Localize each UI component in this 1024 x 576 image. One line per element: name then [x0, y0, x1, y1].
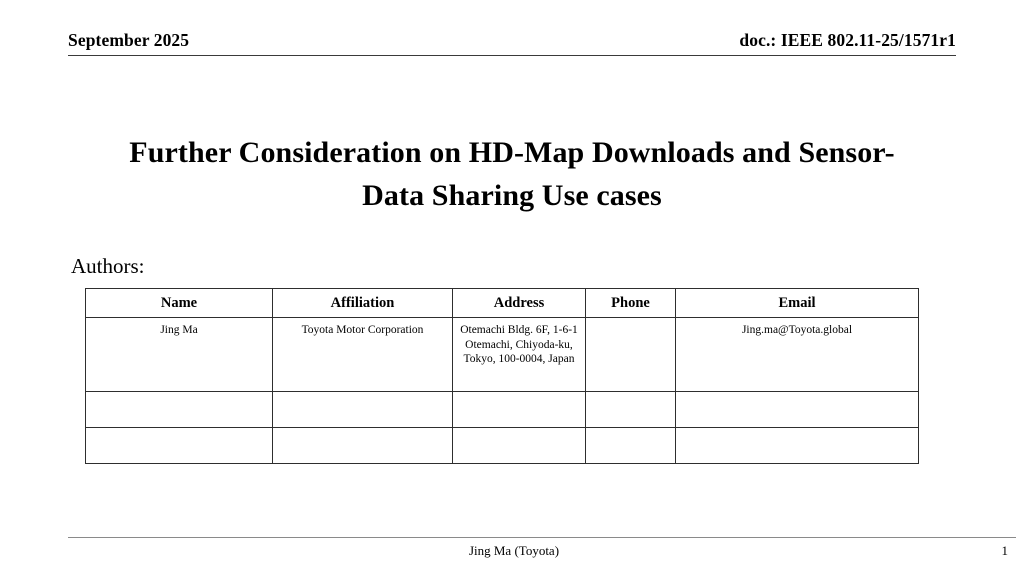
column-header-name: Name	[86, 289, 273, 318]
table-row: Jing Ma Toyota Motor Corporation Otemach…	[86, 318, 919, 392]
cell-phone	[586, 428, 676, 464]
header-doc-reference: doc.: IEEE 802.11-25/1571r1	[739, 30, 956, 51]
cell-affiliation: Toyota Motor Corporation	[273, 318, 453, 392]
table-row	[86, 392, 919, 428]
cell-name: Jing Ma	[86, 318, 273, 392]
header-date: September 2025	[68, 30, 189, 51]
cell-email: Jing.ma@Toyota.global	[676, 318, 919, 392]
cell-name	[86, 392, 273, 428]
table-header-row: Name Affiliation Address Phone Email	[86, 289, 919, 318]
cell-address	[453, 428, 586, 464]
cell-name	[86, 428, 273, 464]
slide-footer: Jing Ma (Toyota) 1	[68, 537, 1016, 567]
authors-table-container: Name Affiliation Address Phone Email Jin…	[85, 288, 918, 464]
cell-address	[453, 392, 586, 428]
column-header-address: Address	[453, 289, 586, 318]
cell-affiliation	[273, 392, 453, 428]
column-header-affiliation: Affiliation	[273, 289, 453, 318]
cell-affiliation	[273, 428, 453, 464]
footer-page-number: 1	[1002, 543, 1009, 559]
column-header-phone: Phone	[586, 289, 676, 318]
cell-address: Otemachi Bldg. 6F, 1-6-1 Otemachi, Chiyo…	[453, 318, 586, 392]
header-divider-rule	[68, 55, 956, 56]
page-title-line-1: Further Consideration on HD-Map Download…	[129, 136, 791, 169]
footer-divider-rule	[68, 537, 1016, 538]
slide-header: September 2025 doc.: IEEE 802.11-25/1571…	[68, 30, 956, 60]
cell-email	[676, 392, 919, 428]
cell-phone	[586, 392, 676, 428]
page-title: Further Consideration on HD-Map Download…	[112, 131, 912, 217]
cell-email	[676, 428, 919, 464]
authors-table: Name Affiliation Address Phone Email Jin…	[85, 288, 919, 464]
footer-author-note: Jing Ma (Toyota)	[68, 543, 1016, 559]
cell-phone	[586, 318, 676, 392]
table-row	[86, 428, 919, 464]
authors-label: Authors:	[71, 254, 145, 278]
column-header-email: Email	[676, 289, 919, 318]
